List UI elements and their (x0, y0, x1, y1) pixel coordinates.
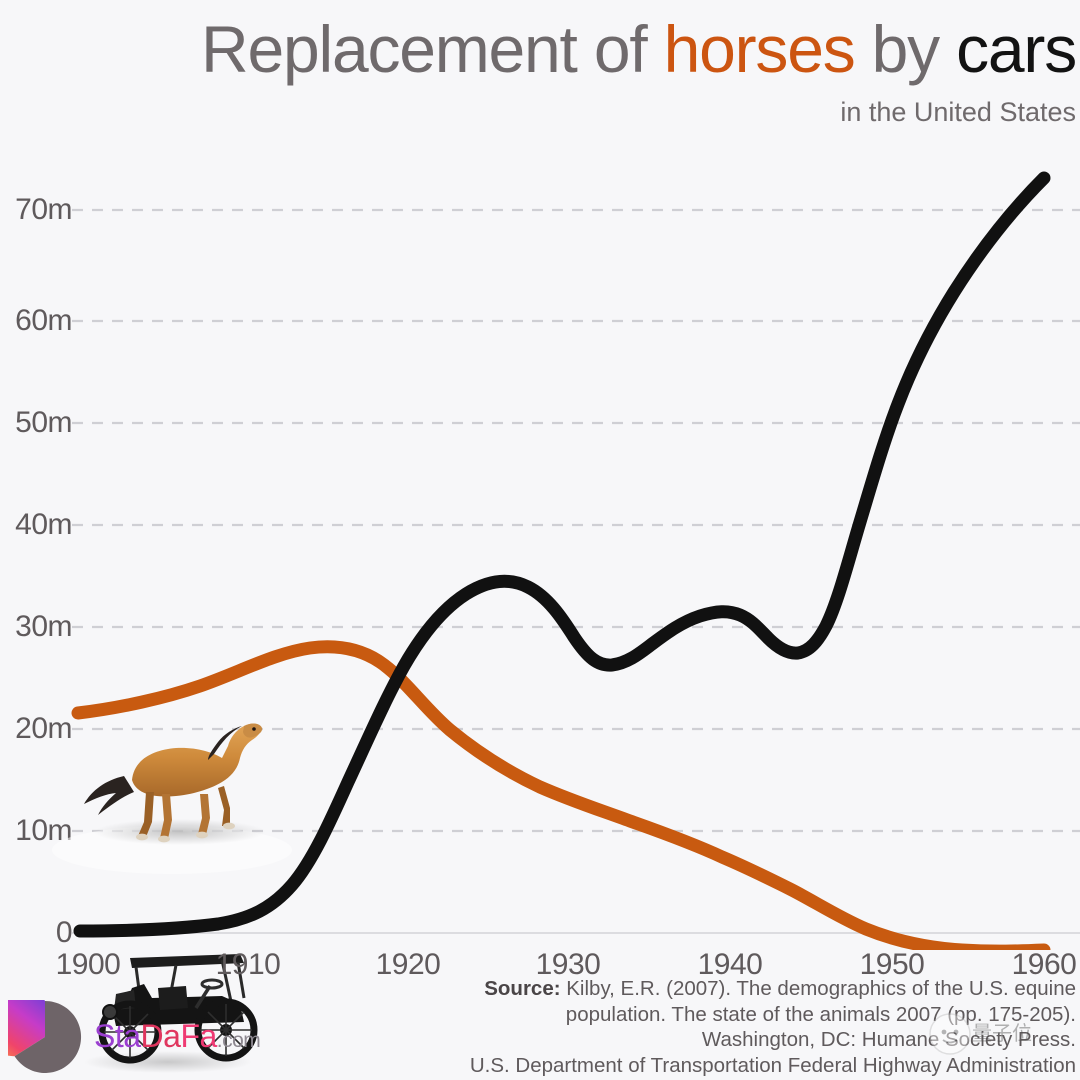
horse-tail (84, 776, 134, 815)
brand-sta: Sta (94, 1018, 141, 1054)
brand-da: Da (141, 1018, 181, 1054)
horse-leg-front-right (218, 786, 230, 826)
horse-illustration (72, 698, 272, 853)
brand-tld: .com (217, 1029, 261, 1052)
horse-eye (252, 727, 256, 731)
brand-logo[interactable]: StaDaFa.com (8, 996, 308, 1074)
horse-body (132, 723, 261, 796)
source-text-1: Kilby, E.R. (2007). The demographics of … (561, 977, 1076, 1000)
horse-hoof-3 (196, 832, 208, 839)
plot-area (0, 150, 1080, 950)
source-line-1: Source: Kilby, E.R. (2007). The demograp… (416, 976, 1076, 1002)
page-subtitle: in the United States (840, 96, 1076, 128)
horse-hoof-4 (223, 823, 235, 830)
source-line-4: U.S. Department of Transportation Federa… (416, 1053, 1076, 1079)
x-tick-label-1900: 1900 (56, 948, 121, 982)
source-note: Source: Kilby, E.R. (2007). The demograp… (416, 976, 1076, 1078)
title-segment-cars: cars (956, 12, 1076, 86)
x-tick-label-1910: 1910 (216, 948, 281, 982)
pie-chart-logo-icon (8, 1000, 82, 1074)
title-segment-horses: horses (664, 12, 855, 86)
source-line-3: Washington, DC: Humane Society Press. (416, 1027, 1076, 1053)
horse-head (243, 724, 262, 738)
brand-fa: Fa (180, 1018, 216, 1054)
chart-page: Replacement of horses by cars in the Uni… (0, 0, 1080, 1080)
title-segment-replacement-of: Replacement of (201, 12, 664, 86)
title-segment-by: by (855, 12, 957, 86)
source-label: Source: (484, 977, 560, 1000)
horse-hoof-1 (136, 834, 148, 841)
title-block: Replacement of horses by cars in the Uni… (0, 6, 1080, 136)
source-line-2: population. The state of the animals 200… (416, 1002, 1076, 1028)
page-title: Replacement of horses by cars (0, 6, 1080, 92)
horse-photo (72, 698, 272, 853)
brand-name: StaDaFa.com (94, 1018, 260, 1059)
horse-ground-shadow (94, 819, 266, 845)
horse-hoof-2 (158, 836, 170, 843)
